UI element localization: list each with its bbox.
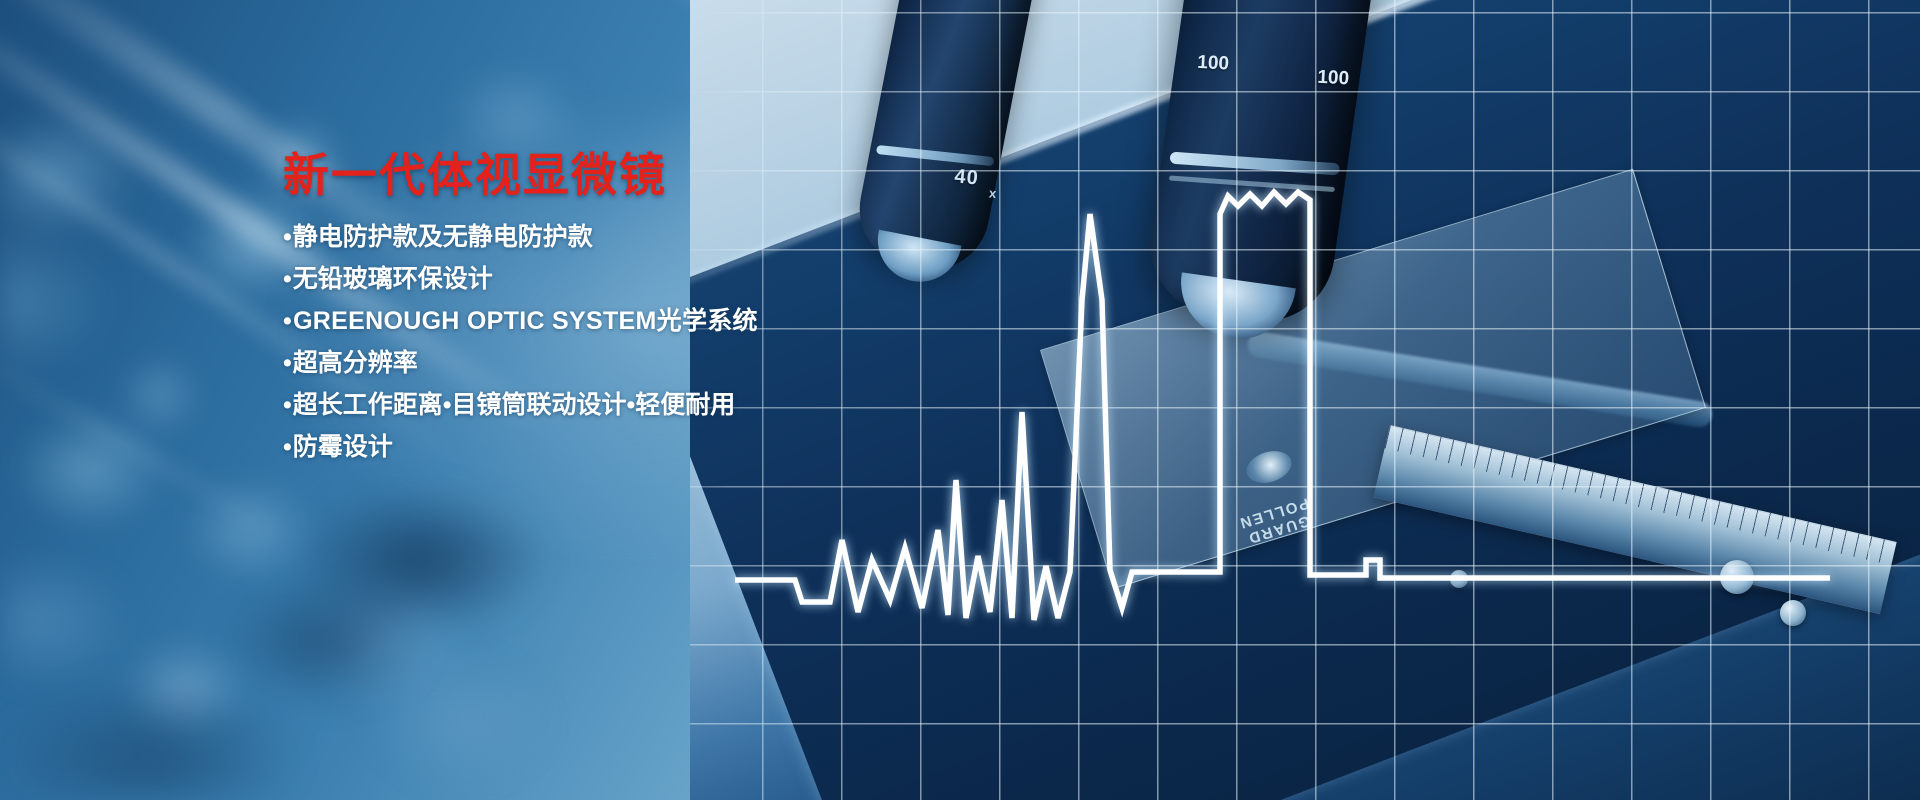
bullet-marker: • [283, 391, 292, 419]
list-item: •静电防护款及无静电防护款 [283, 225, 1043, 250]
bullet-marker: • [283, 223, 292, 251]
bullet-marker: • [283, 265, 292, 293]
list-item-label: GREENOUGH OPTIC SYSTEM光学系统 [293, 307, 758, 335]
list-item: •超长工作距离•目镜筒联动设计•轻便耐用 [283, 393, 1043, 418]
list-item: •无铅玻璃环保设计 [283, 267, 1043, 292]
list-item: •GREENOUGH OPTIC SYSTEM光学系统 [283, 309, 1043, 334]
bullet-marker: • [283, 307, 292, 335]
bullet-marker: • [283, 433, 292, 461]
banner-copy: 新一代体视显微镜 •静电防护款及无静电防护款 •无铅玻璃环保设计 •GREENO… [283, 150, 1043, 477]
hero-banner: GUARD POLLEN 40 x 100/1.25 160/0.17 100 … [0, 0, 1920, 800]
list-item-label: 无铅玻璃环保设计 [293, 265, 493, 293]
feature-list: •静电防护款及无静电防护款 •无铅玻璃环保设计 •GREENOUGH OPTIC… [283, 225, 1043, 460]
list-item: •防霉设计 [283, 435, 1043, 460]
bullet-marker: • [283, 349, 292, 377]
list-item: •超高分辨率 [283, 351, 1043, 376]
page-title: 新一代体视显微镜 [283, 150, 1043, 201]
list-item-label: 防霉设计 [293, 433, 393, 461]
list-item-label: 超高分辨率 [293, 349, 418, 377]
list-item-label: 静电防护款及无静电防护款 [293, 223, 593, 251]
list-item-label: 超长工作距离•目镜筒联动设计•轻便耐用 [293, 391, 736, 419]
